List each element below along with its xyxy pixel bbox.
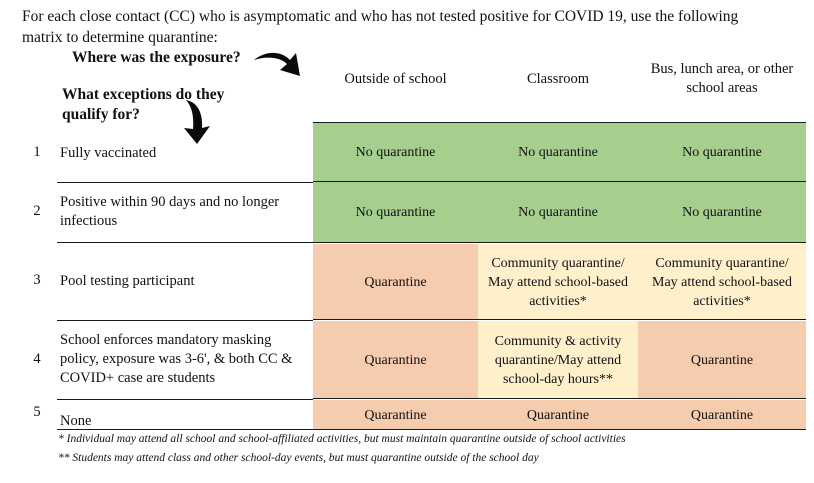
matrix-cell-r3c3: Community quarantine/ May attend school-… (638, 244, 806, 320)
column-header-outside-of-school: Outside of school (313, 70, 478, 89)
row-divider-2-colored (313, 242, 806, 243)
matrix-cell-r5c1: Quarantine (313, 400, 478, 430)
column-header-classroom: Classroom (478, 70, 638, 89)
matrix-cell-r5c2: Quarantine (478, 400, 638, 430)
row-number-3: 3 (28, 272, 46, 289)
quarantine-matrix-page: For each close contact (CC) who is asymp… (0, 0, 814, 483)
row-number-4: 4 (28, 351, 46, 368)
row-divider-1 (57, 182, 313, 183)
question-exposure-label: Where was the exposure? (72, 49, 241, 67)
curved-arrow-down-icon (176, 98, 216, 146)
row-label-pool-testing-participant: Pool testing participant (60, 272, 305, 291)
column-header-bus-lunch-other: Bus, lunch area, or other school areas (638, 60, 806, 98)
row-divider-3-colored (313, 319, 806, 320)
row-divider-5-colored (313, 429, 806, 430)
row-divider-5 (57, 429, 313, 430)
matrix-cell-r1c1: No quarantine (313, 122, 478, 182)
row-label-fully-vaccinated: Fully vaccinated (60, 144, 305, 163)
matrix-cell-r4c2: Community & activity quarantine/May atte… (478, 321, 638, 399)
curved-arrow-right-icon (252, 48, 308, 82)
matrix-cell-r2c1: No quarantine (313, 182, 478, 242)
row-divider-4-colored (313, 398, 806, 399)
matrix-cell-r5c3: Quarantine (638, 400, 806, 430)
row-number-5: 5 (28, 404, 46, 421)
row-label-positive-within-90-days: Positive within 90 days and no longer in… (60, 193, 305, 231)
row-divider-1-colored (313, 181, 806, 182)
matrix-cell-r1c2: No quarantine (478, 122, 638, 182)
row-divider-4 (57, 399, 313, 400)
matrix-cell-r3c2: Community quarantine/ May attend school-… (478, 244, 638, 320)
matrix-cell-r2c3: No quarantine (638, 182, 806, 242)
intro-paragraph: For each close contact (CC) who is asymp… (22, 6, 762, 48)
row-number-2: 2 (28, 203, 46, 220)
row-label-mandatory-masking-policy: School enforces mandatory masking policy… (60, 331, 310, 388)
footnote-single-asterisk: * Individual may attend all school and s… (58, 433, 626, 445)
matrix-cell-r4c3: Quarantine (638, 321, 806, 399)
row-divider-3 (57, 320, 313, 321)
matrix-cell-r2c2: No quarantine (478, 182, 638, 242)
matrix-cell-r3c1: Quarantine (313, 244, 478, 320)
row-number-1: 1 (28, 144, 46, 161)
question-exceptions-label: What exceptions do they qualify for? (62, 85, 252, 125)
row-divider-2 (57, 242, 313, 243)
footnote-double-asterisk: ** Students may attend class and other s… (58, 452, 539, 464)
matrix-cell-r4c1: Quarantine (313, 321, 478, 399)
matrix-cell-r1c3: No quarantine (638, 122, 806, 182)
